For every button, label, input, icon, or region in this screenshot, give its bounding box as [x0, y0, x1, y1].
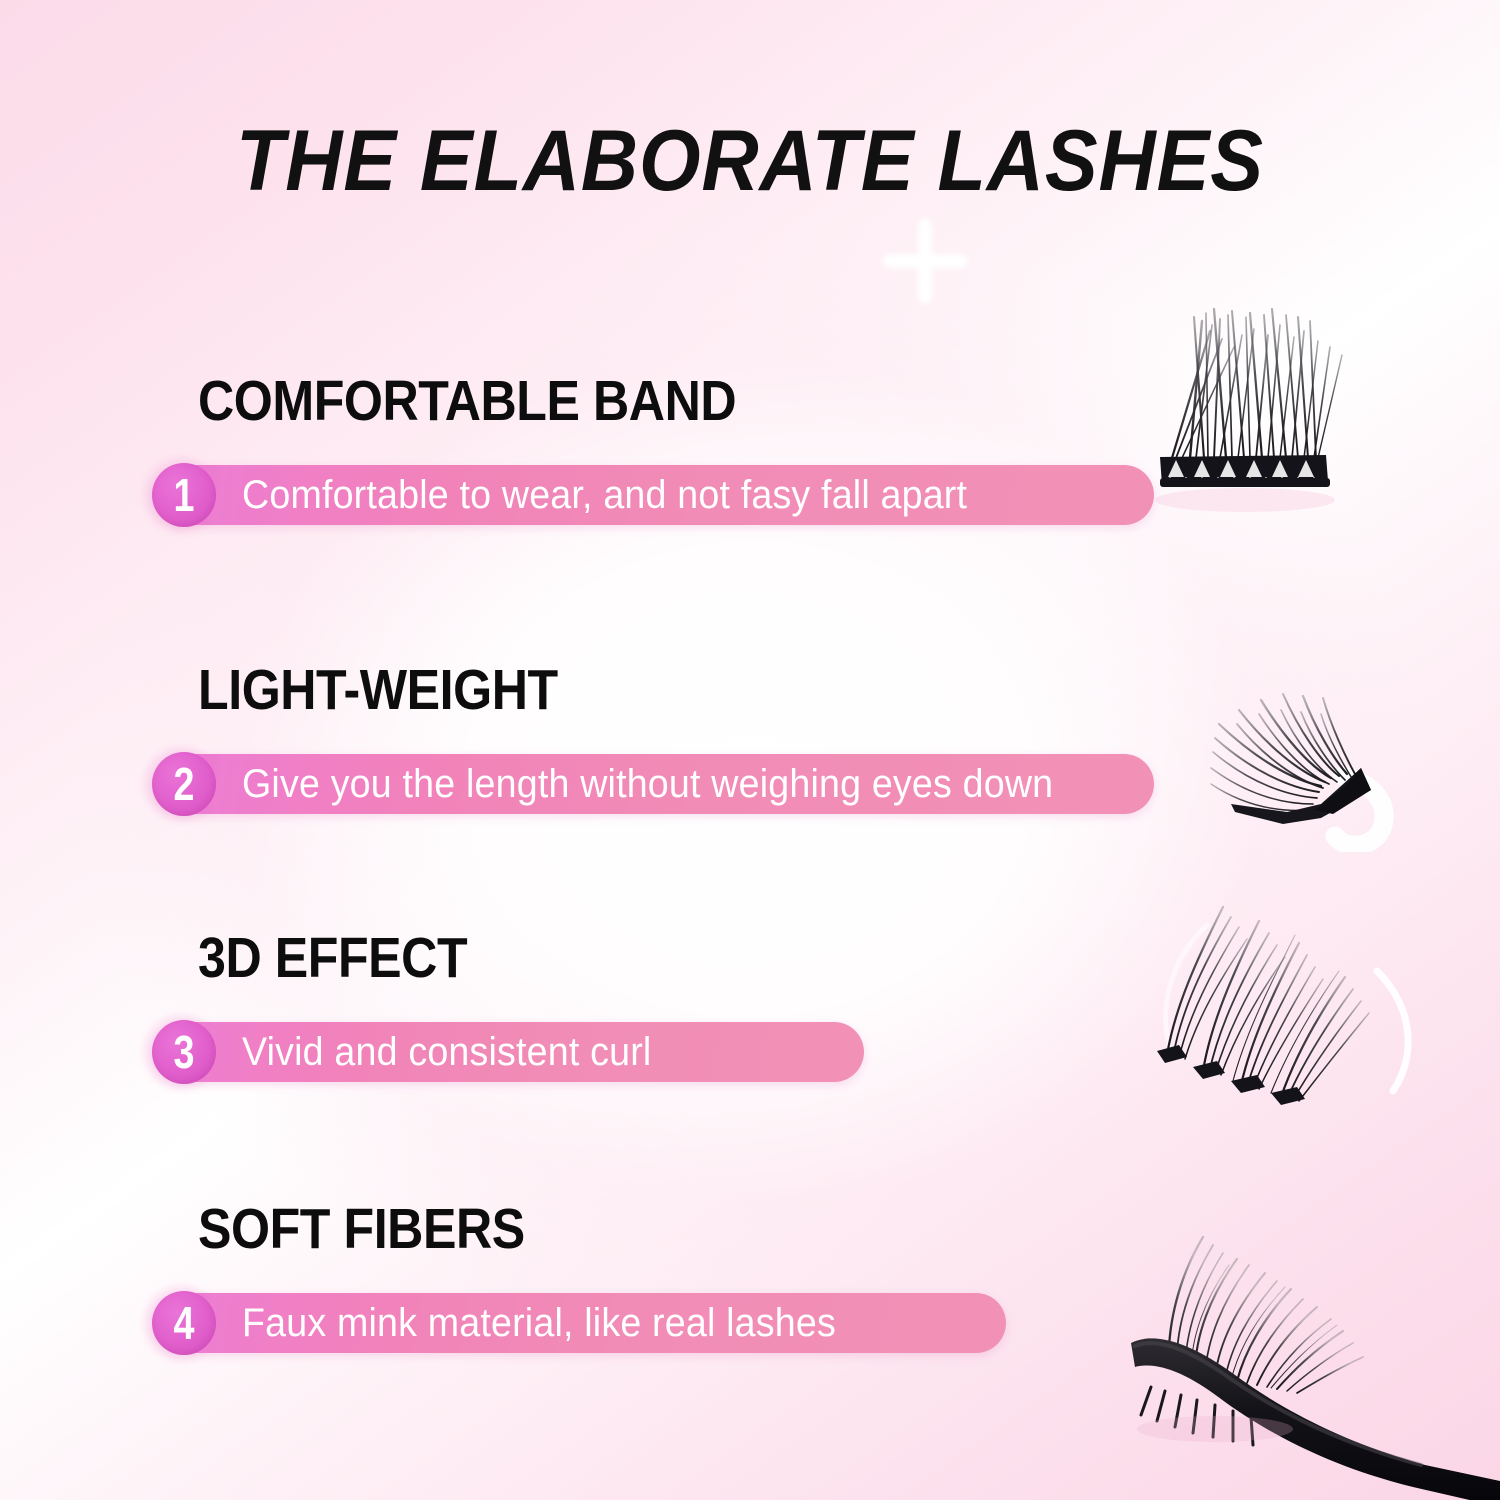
- feature-description-4: Faux mink material, like real lashes: [242, 1293, 836, 1353]
- feature-description-1: Comfortable to wear, and not fasy fall a…: [242, 465, 967, 525]
- feature-number-2: 2: [158, 752, 210, 816]
- feature-number-badge-2: 2: [152, 752, 216, 816]
- lash-tweezer-photo: [1095, 1215, 1500, 1500]
- feature-heading-1: COMFORTABLE BAND: [198, 368, 736, 434]
- feature-number-3: 3: [158, 1020, 210, 1084]
- feature-number-badge-3: 3: [152, 1020, 216, 1084]
- lash-cluster-band-photo: [1150, 295, 1400, 555]
- feature-number-badge-4: 4: [152, 1291, 216, 1355]
- lash-strip-angled-photo: [1195, 672, 1425, 852]
- feature-description-2: Give you the length without weighing eye…: [242, 754, 1053, 814]
- feature-heading-4: SOFT FIBERS: [198, 1196, 525, 1262]
- feature-heading-3: 3D EFFECT: [198, 925, 467, 991]
- page-title: THE ELABORATE LASHES: [60, 112, 1440, 211]
- feature-description-3: Vivid and consistent curl: [242, 1022, 651, 1082]
- feature-number-1: 1: [158, 463, 210, 527]
- feature-heading-2: LIGHT-WEIGHT: [198, 657, 558, 723]
- lash-clusters-curl-photo: [1145, 895, 1445, 1110]
- feature-number-badge-1: 1: [152, 463, 216, 527]
- sparkle-star-icon: [882, 218, 968, 304]
- lash-product-feature-poster: THE ELABORATE LASHES COMFORTABLE BAND 1 …: [0, 0, 1500, 1500]
- feature-number-4: 4: [158, 1291, 210, 1355]
